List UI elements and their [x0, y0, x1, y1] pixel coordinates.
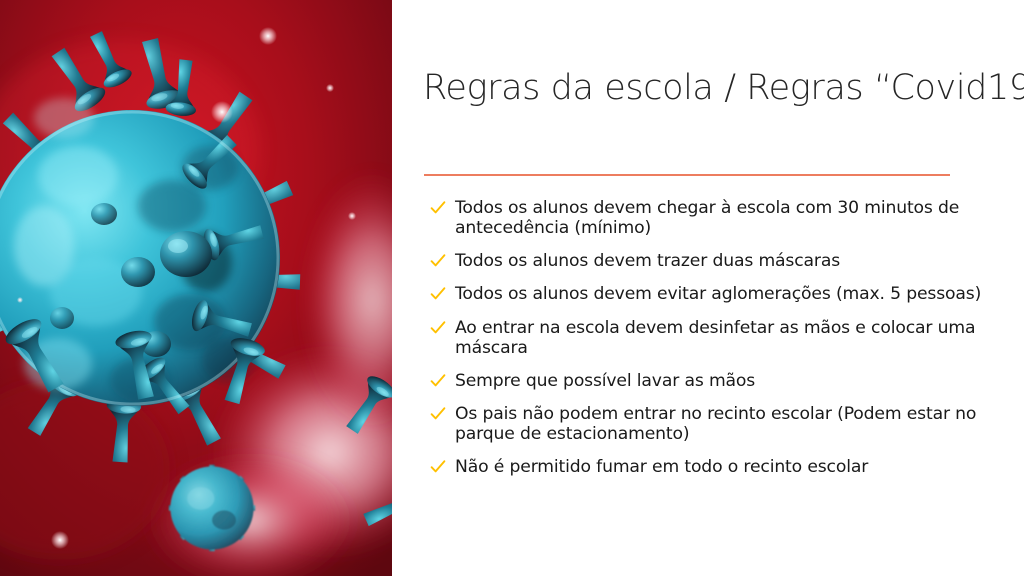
- checkmark-icon: [430, 253, 446, 269]
- list-item: Todos os alunos devem evitar aglomeraçõe…: [428, 284, 1010, 304]
- checkmark-icon: [430, 200, 446, 216]
- slide-content: Regras da escola / Regras “Covid19” Todo…: [392, 0, 1024, 576]
- page-title: Regras da escola / Regras “Covid19”: [423, 69, 1003, 108]
- coronavirus-image-panel: [0, 0, 392, 576]
- list-item-label: Não é permitido fumar em todo o recinto …: [455, 457, 1010, 477]
- checkmark-icon: [430, 459, 446, 475]
- list-item: Sempre que possível lavar as mãos: [428, 371, 1010, 391]
- checkmark-icon: [430, 373, 446, 389]
- list-item: Não é permitido fumar em todo o recinto …: [428, 457, 1010, 477]
- checkmark-icon: [430, 286, 446, 302]
- list-item: Todos os alunos devem trazer duas máscar…: [428, 251, 1010, 271]
- list-item-label: Sempre que possível lavar as mãos: [455, 371, 1010, 391]
- list-item-label: Todos os alunos devem trazer duas máscar…: [455, 251, 1010, 271]
- checkmark-icon: [430, 406, 446, 422]
- list-item-label: Todos os alunos devem evitar aglomeraçõe…: [455, 284, 1010, 304]
- list-item-label: Todos os alunos devem chegar à escola co…: [455, 198, 1010, 238]
- list-item-label: Os pais não podem entrar no recinto esco…: [455, 404, 1010, 444]
- list-item: Os pais não podem entrar no recinto esco…: [428, 404, 1010, 444]
- list-item-label: Ao entrar na escola devem desinfetar as …: [455, 318, 1010, 358]
- coronavirus-illustration: [0, 0, 392, 576]
- rules-list: Todos os alunos devem chegar à escola co…: [428, 198, 1010, 477]
- list-item: Ao entrar na escola devem desinfetar as …: [428, 318, 1010, 358]
- slide: Regras da escola / Regras “Covid19” Todo…: [0, 0, 1024, 576]
- title-divider: [424, 174, 950, 176]
- checkmark-icon: [430, 320, 446, 336]
- list-item: Todos os alunos devem chegar à escola co…: [428, 198, 1010, 238]
